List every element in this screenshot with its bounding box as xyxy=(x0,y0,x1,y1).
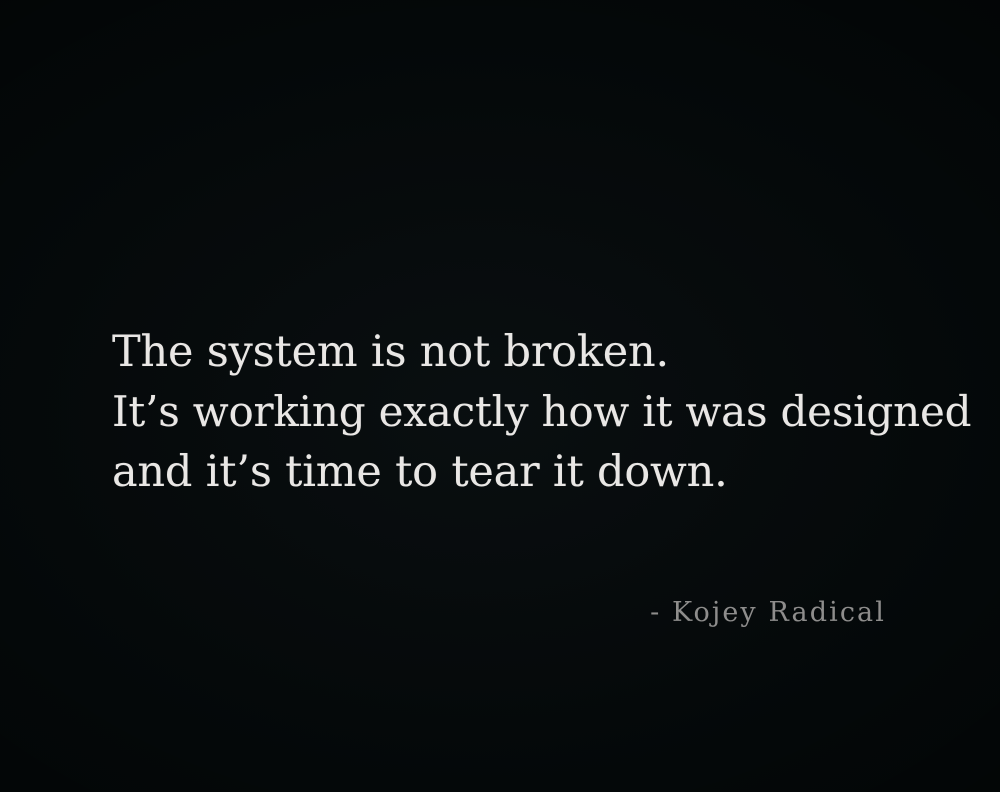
quote-line-3: and it’s time to tear it down. xyxy=(112,442,902,502)
quote-card: The system is not broken. It’s working e… xyxy=(0,0,1000,792)
attribution: - Kojey Radical xyxy=(112,596,886,630)
quote-line-2: It’s working exactly how it was designed xyxy=(112,382,902,442)
quote-line-1: The system is not broken. xyxy=(112,322,902,382)
quote-block: The system is not broken. It’s working e… xyxy=(112,322,902,502)
attribution-text: - Kojey Radical xyxy=(650,597,886,628)
